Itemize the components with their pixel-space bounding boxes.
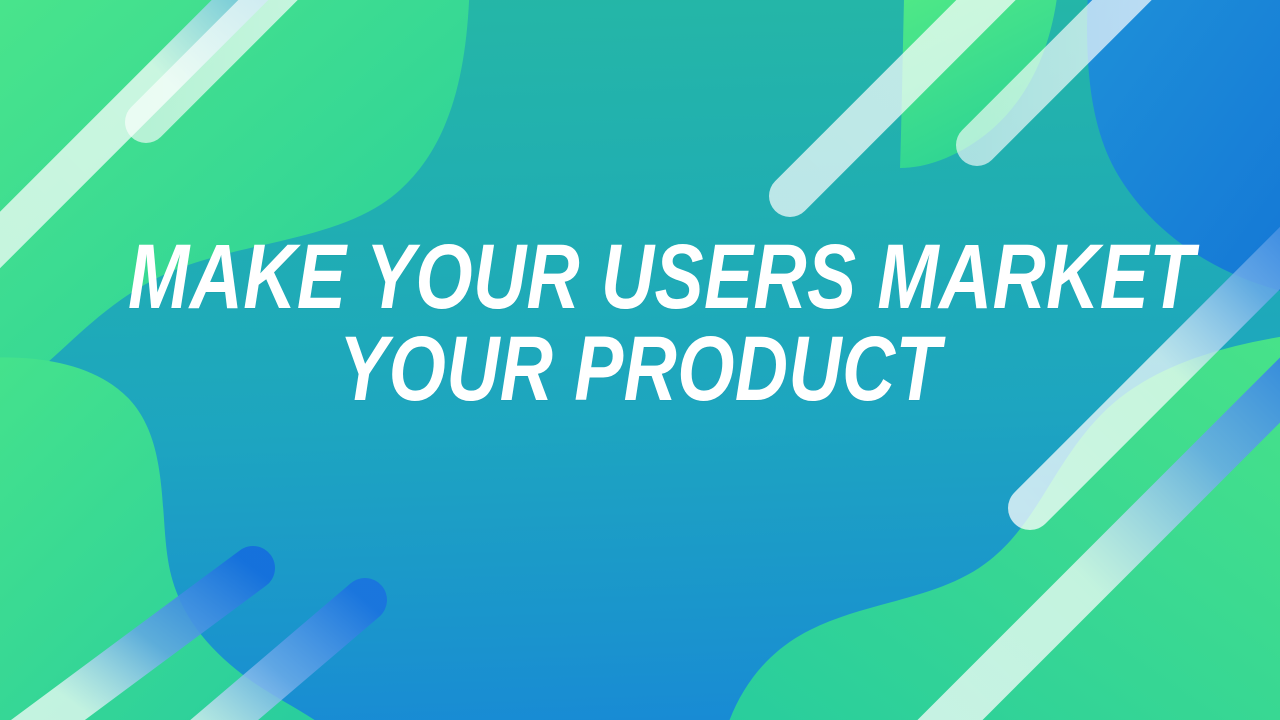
title-slide: MAKE YOUR USERS MARKET YOUR PRODUCT [0, 0, 1280, 720]
blob-top-right-blue [1087, 0, 1280, 300]
background-decoration [0, 0, 1280, 720]
